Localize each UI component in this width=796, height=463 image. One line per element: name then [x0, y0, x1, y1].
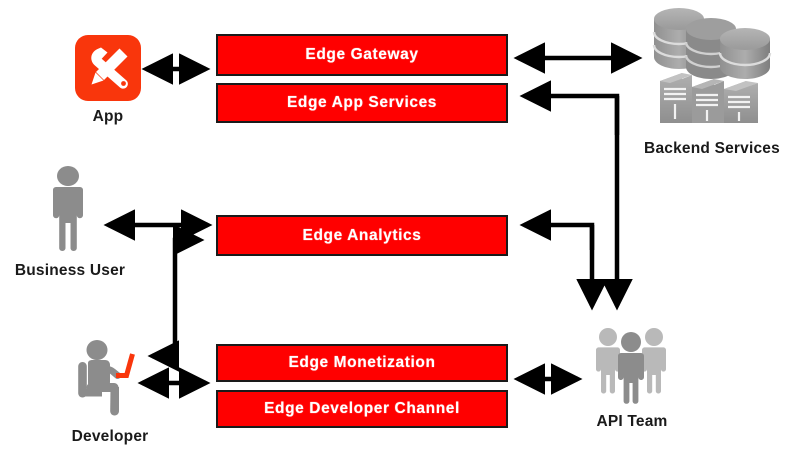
db-stack-right	[720, 28, 770, 79]
box-edge-developer-channel[interactable]: Edge Developer Channel	[216, 390, 508, 428]
box-edge-monetization[interactable]: Edge Monetization	[216, 344, 508, 382]
box-edge-developer-channel-label: Edge Developer Channel	[264, 400, 460, 418]
person-left	[596, 328, 620, 394]
database-servers-icon	[648, 5, 788, 133]
server-rack-middle	[692, 79, 724, 123]
box-edge-analytics[interactable]: Edge Analytics	[216, 215, 508, 256]
box-edge-app-services[interactable]: Edge App Services	[216, 83, 508, 123]
box-edge-analytics-label: Edge Analytics	[303, 227, 422, 245]
box-edge-gateway-label: Edge Gateway	[305, 46, 418, 64]
connector-developer-to-analytics	[152, 240, 200, 356]
box-edge-app-services-label: Edge App Services	[287, 94, 437, 112]
box-edge-gateway[interactable]: Edge Gateway	[216, 34, 508, 76]
label-business-user: Business User	[0, 262, 140, 280]
server-rack-right	[724, 81, 758, 123]
person-right	[642, 328, 666, 394]
app-tools-icon	[75, 35, 141, 101]
label-app: App	[58, 108, 158, 126]
architecture-diagram: Edge Gateway Edge App Services Edge Anal…	[0, 0, 796, 463]
people-group-icon	[588, 325, 674, 407]
server-rack-left	[660, 73, 692, 123]
label-developer: Developer	[50, 428, 170, 446]
box-edge-monetization-label: Edge Monetization	[288, 354, 435, 372]
person-standing-icon	[40, 165, 96, 251]
person-seated-laptop-icon	[72, 338, 147, 418]
person-center	[618, 332, 644, 404]
connector-backend-to-analytics	[524, 225, 592, 250]
label-api-team: API Team	[570, 413, 694, 431]
label-backend-services: Backend Services	[628, 140, 796, 158]
connector-backend-to-app-services	[524, 96, 617, 135]
